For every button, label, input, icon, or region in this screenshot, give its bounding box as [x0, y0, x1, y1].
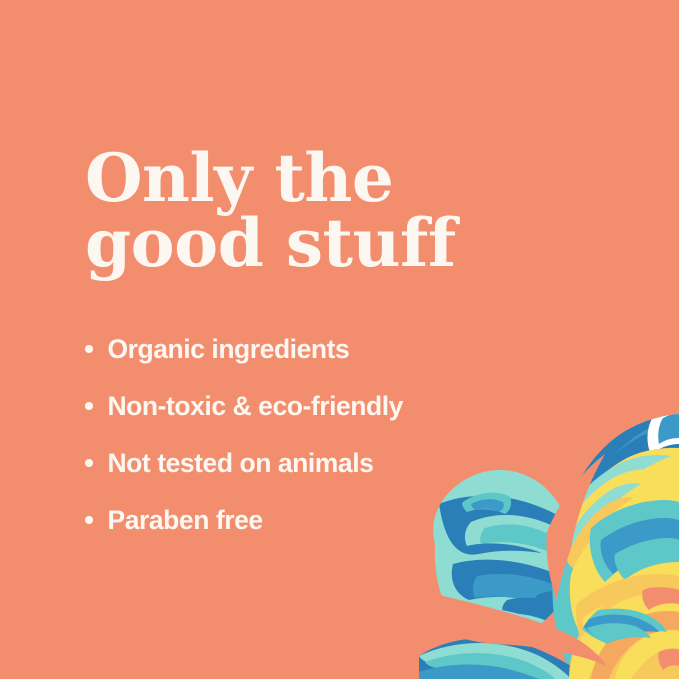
flower-petal-bottom: [419, 624, 599, 679]
list-item: Organic ingredients: [85, 321, 605, 378]
poster-content: Only the good stuff Organic ingredients …: [85, 146, 605, 549]
bullet-dot-icon: [85, 516, 93, 524]
benefit-label: Not tested on animals: [108, 448, 374, 479]
headline-line-2: good stuff: [85, 211, 605, 276]
benefit-label: Paraben free: [108, 505, 263, 536]
bullet-dot-icon: [85, 402, 93, 410]
promo-poster: Only the good stuff Organic ingredients …: [0, 0, 679, 679]
list-item: Paraben free: [85, 492, 605, 549]
list-item: Non-toxic & eco-friendly: [85, 378, 605, 435]
benefit-list: Organic ingredients Non-toxic & eco-frie…: [85, 321, 605, 549]
benefit-label: Non-toxic & eco-friendly: [108, 391, 403, 422]
flower-center-burst: [559, 574, 679, 679]
bullet-dot-icon: [85, 459, 93, 467]
headline-line-1: Only the: [85, 146, 605, 211]
page-title: Only the good stuff: [85, 146, 605, 277]
bullet-dot-icon: [85, 345, 93, 353]
list-item: Not tested on animals: [85, 435, 605, 492]
benefit-label: Organic ingredients: [108, 334, 350, 365]
